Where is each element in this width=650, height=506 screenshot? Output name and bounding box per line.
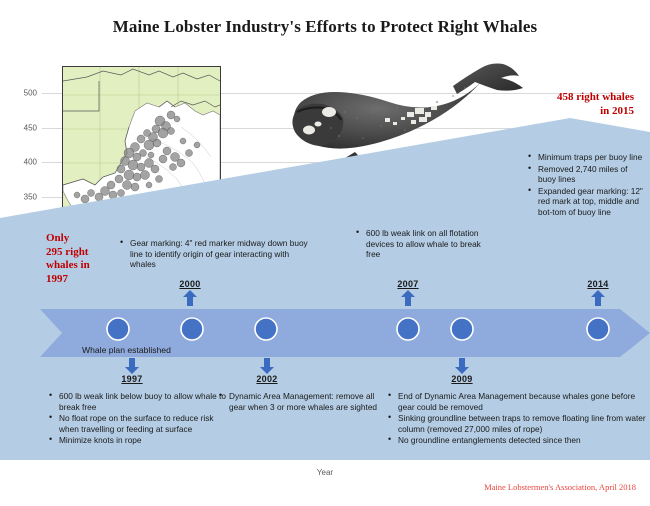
- whale-plan-label: Whale plan established: [82, 345, 171, 355]
- bullet-item: 600 lb weak link below buoy to allow wha…: [48, 391, 226, 412]
- bullet-item: End of Dynamic Area Management because w…: [387, 391, 649, 412]
- bullets-2014: Minimum traps per buoy line Removed 2,74…: [527, 152, 645, 219]
- bullet-item: 600 lb weak link on all flotation device…: [355, 228, 483, 260]
- year-label: 2000: [166, 279, 214, 289]
- bullet-item: Removed 2,740 miles of buoy lines: [527, 164, 645, 185]
- bullet-item: Minimize knots in rope: [48, 435, 226, 446]
- bullets-2000: Gear marking: 4" red marker midway down …: [119, 238, 309, 271]
- arrow-up-icon: [183, 290, 197, 306]
- source-credit: Maine Lobstermen's Association, April 20…: [484, 482, 636, 492]
- bullets-1997: 600 lb weak link below buoy to allow wha…: [48, 391, 226, 447]
- bullet-item: Dynamic Area Management: remove all gear…: [218, 391, 378, 412]
- callout-1997: Only 295 right whales in 1997: [46, 232, 112, 286]
- bullet-item: No float rope on the surface to reduce r…: [48, 413, 226, 434]
- year-marker-2009: 2009: [438, 357, 486, 384]
- bullet-item: Sinking groundline between traps to remo…: [387, 413, 649, 434]
- year-label: 1997: [108, 374, 156, 384]
- year-marker-2007: 2007: [384, 279, 432, 306]
- bullet-item: Minimum traps per buoy line: [527, 152, 645, 163]
- year-marker-1997: 1997: [108, 357, 156, 384]
- bullet-item: Gear marking: 4" red marker midway down …: [119, 238, 309, 270]
- bullets-2009: End of Dynamic Area Management because w…: [387, 391, 649, 447]
- bullet-item: No groundline entanglements detected sin…: [387, 435, 649, 446]
- infographic-canvas: 500 450 400 350 300 250 200 150 100 50 0…: [0, 0, 650, 506]
- arrow-up-icon: [591, 290, 605, 306]
- year-label: 2002: [243, 374, 291, 384]
- year-label: 2009: [438, 374, 486, 384]
- arrow-down-icon: [455, 358, 469, 374]
- year-marker-2014: 2014: [574, 279, 622, 306]
- page-title: Maine Lobster Industry's Efforts to Prot…: [0, 17, 650, 37]
- bullets-2007: 600 lb weak link on all flotation device…: [355, 228, 483, 261]
- year-marker-2000: 2000: [166, 279, 214, 306]
- arrow-down-icon: [125, 358, 139, 374]
- callout-2015: 458 right whales in 2015: [557, 91, 634, 119]
- bullet-item: Expanded gear marking: 12" red mark at t…: [527, 186, 645, 218]
- bullets-2002: Dynamic Area Management: remove all gear…: [218, 391, 378, 413]
- x-axis-label: Year: [0, 468, 650, 477]
- arrow-down-icon: [260, 358, 274, 374]
- year-label: 2014: [574, 279, 622, 289]
- callout-2015-line2: in 2015: [557, 105, 634, 119]
- year-label: 2007: [384, 279, 432, 289]
- callout-2015-line1: 458 right whales: [557, 91, 634, 105]
- arrow-up-icon: [401, 290, 415, 306]
- year-marker-2002: 2002: [243, 357, 291, 384]
